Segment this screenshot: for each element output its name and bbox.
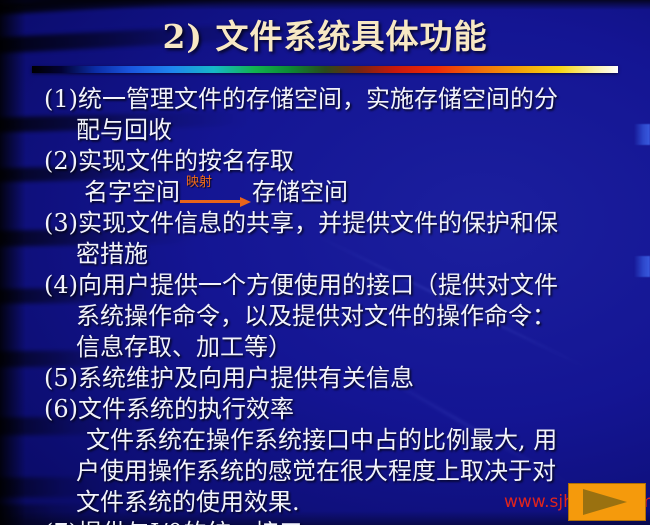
item6-line1: (6)文件系统的执行效率 [44, 394, 636, 425]
item2-line1: (2)实现文件的按名存取 [44, 146, 636, 177]
list-item: (5)系统维护及向用户提供有关信息 [44, 363, 636, 394]
list-item: (1)统一管理文件的存储空间，实施存储空间的分 配与回收 [44, 84, 636, 146]
slide-body: (1)统一管理文件的存储空间，实施存储空间的分 配与回收 (2)实现文件的按名存… [44, 84, 636, 525]
item4-line2: 系统操作命令，以及提供对文件的操作命令： [44, 301, 636, 332]
rainbow-divider [32, 66, 618, 73]
orange-triangle-logo [568, 483, 646, 521]
item7-line1: (7)提供与I/0的统一接口 [44, 518, 636, 525]
mapping-arrow-label: 映射 [186, 176, 212, 190]
mapping-arrow: 映射 [180, 177, 252, 208]
list-item: (4)向用户提供一个方便使用的接口（提供对文件 系统操作命令，以及提供对文件的操… [44, 270, 636, 363]
item6-line2: 文件系统在操作系统接口中占的比例最大, 用 [44, 425, 636, 456]
item3-line2: 密措施 [44, 239, 636, 270]
presentation-slide: 2) 文件系统具体功能 (1)统一管理文件的存储空间，实施存储空间的分 配与回收… [0, 0, 650, 525]
map-source-label: 名字空间 [84, 177, 180, 208]
item1-line2: 配与回收 [44, 115, 636, 146]
item4-line3: 信息存取、加工等） [44, 332, 636, 363]
item5-line1: (5)系统维护及向用户提供有关信息 [44, 363, 636, 394]
item1-line1: (1)统一管理文件的存储空间，实施存储空间的分 [44, 84, 636, 115]
arrow-head-icon [240, 197, 251, 207]
item6-line3: 户使用操作系统的感觉在很大程度上取决于对 [44, 456, 636, 487]
slide-title: 2) 文件系统具体功能 [0, 16, 650, 58]
list-item: (7)提供与I/0的统一接口 [44, 518, 636, 525]
item4-line1: (4)向用户提供一个方便使用的接口（提供对文件 [44, 270, 636, 301]
arrow-shaft-icon [180, 200, 242, 203]
list-item: (3)实现文件信息的共享，并提供文件的保护和保 密措施 [44, 208, 636, 270]
name-space-to-storage-space-diagram: 名字空间 映射 存储空间 [44, 177, 636, 208]
list-item: (2)实现文件的按名存取 名字空间 映射 存储空间 [44, 146, 636, 208]
item3-line1: (3)实现文件信息的共享，并提供文件的保护和保 [44, 208, 636, 239]
triangle-icon [583, 489, 627, 515]
map-target-label: 存储空间 [252, 177, 348, 208]
